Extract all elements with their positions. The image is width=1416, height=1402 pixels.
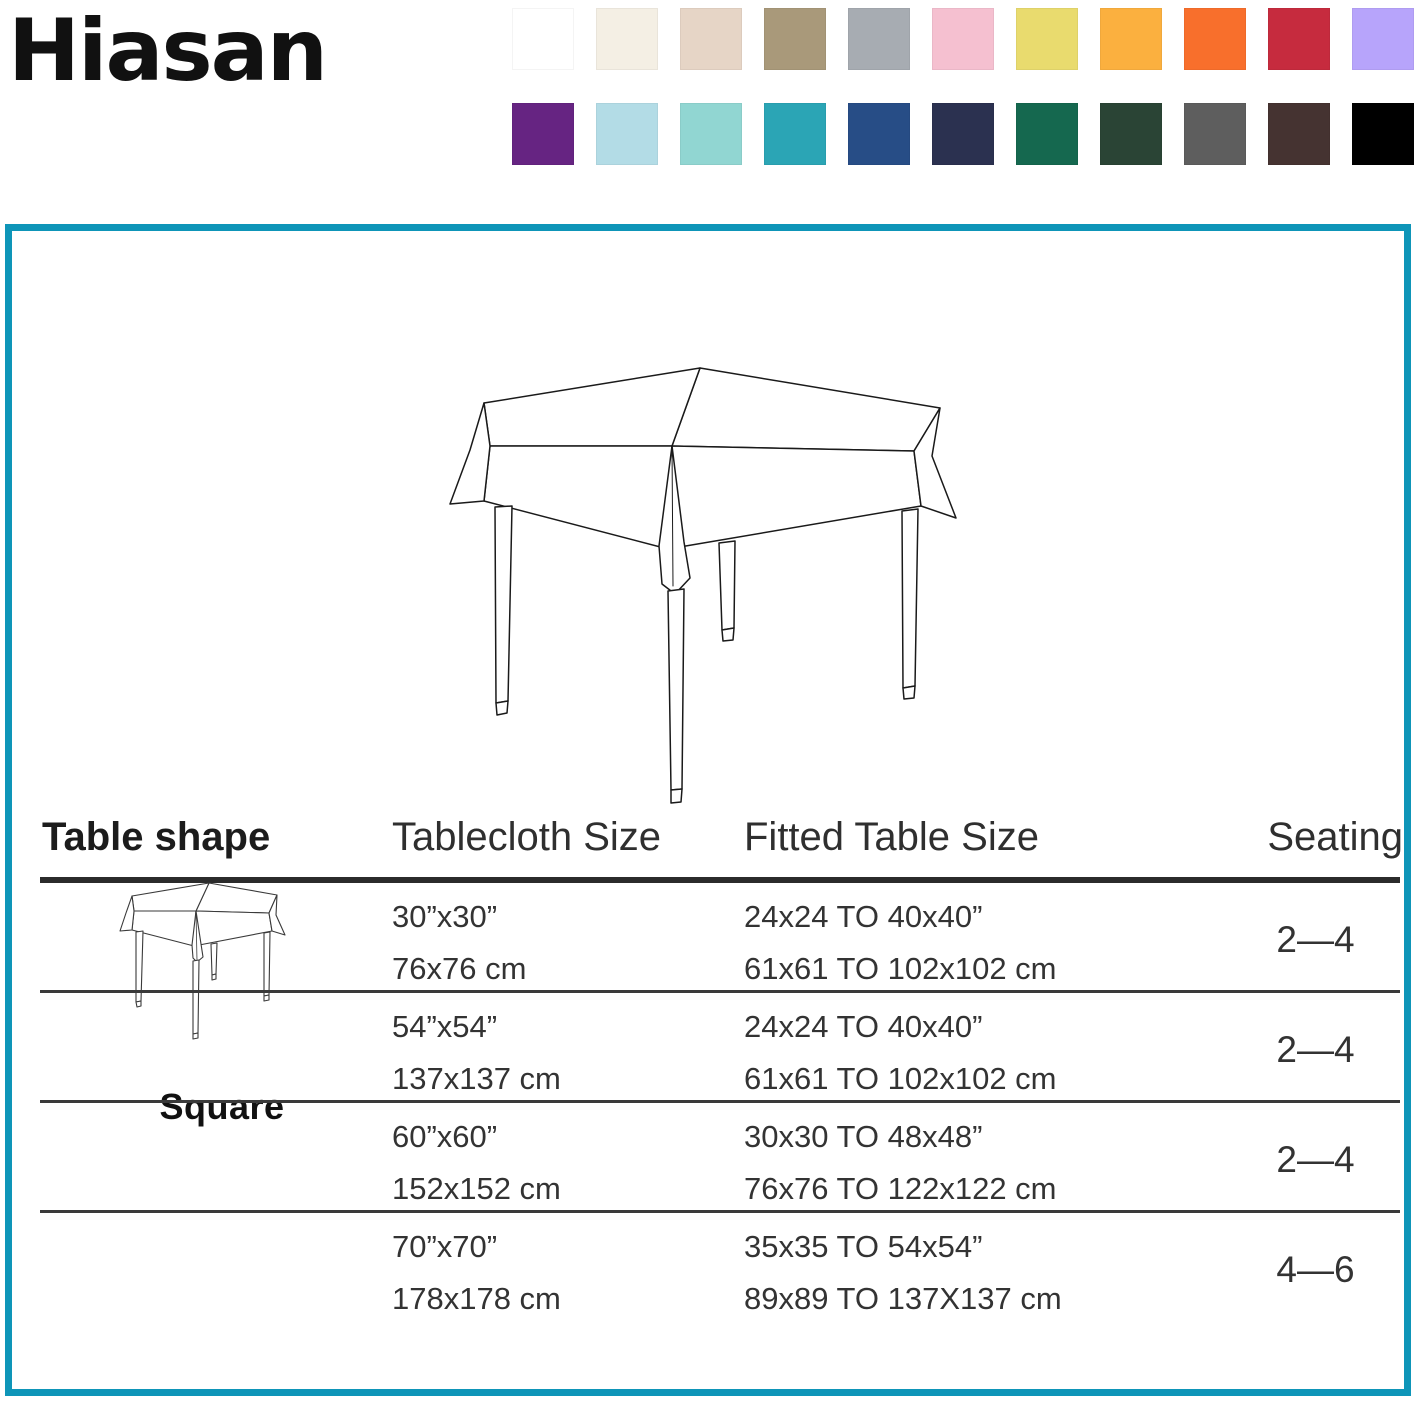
fitted-table-size-cell: 35x35 TO 54x54”89x89 TO 137X137 cm — [744, 1221, 1224, 1325]
color-swatch-row-1 — [512, 8, 1412, 70]
color-swatch-hunter-green[interactable] — [1100, 103, 1162, 165]
tablecloth-size-cm: 178x178 cm — [392, 1273, 742, 1325]
fitted-table-size-cell: 24x24 TO 40x40”61x61 TO 102x102 cm — [744, 891, 1224, 995]
size-table-row: 70”x70”178x178 cm35x35 TO 54x54”89x89 TO… — [32, 1213, 1400, 1331]
size-table-row: 60”x60”152x152 cm30x30 TO 48x48”76x76 TO… — [32, 1103, 1400, 1213]
seating-value: 2—4 — [1228, 1027, 1403, 1073]
seating-value: 4—6 — [1228, 1247, 1403, 1293]
color-swatch-row-2 — [512, 103, 1412, 165]
header-tablecloth-size: Tablecloth Size — [392, 811, 742, 863]
color-swatch-orange[interactable] — [1184, 8, 1246, 70]
fitted-table-size-cm: 61x61 TO 102x102 cm — [744, 943, 1224, 995]
fitted-table-size-cm: 76x76 TO 122x122 cm — [744, 1163, 1224, 1215]
color-swatch-grid — [512, 8, 1412, 170]
size-table-header: Table shape Tablecloth Size Fitted Table… — [32, 811, 1400, 877]
color-swatch-navy-blue[interactable] — [848, 103, 910, 165]
fitted-table-size-inches: 24x24 TO 40x40” — [744, 891, 1224, 943]
color-swatch-white[interactable] — [512, 8, 574, 70]
color-swatch-dark-brown[interactable] — [1268, 103, 1330, 165]
square-table-illustration — [432, 346, 992, 806]
color-swatch-purple[interactable] — [512, 103, 574, 165]
tablecloth-size-inches: 60”x60” — [392, 1111, 742, 1163]
tablecloth-size-cm: 152x152 cm — [392, 1163, 742, 1215]
size-table: Table shape Tablecloth Size Fitted Table… — [32, 811, 1400, 1331]
seating-value: 2—4 — [1228, 917, 1403, 963]
color-swatch-pale-yellow[interactable] — [1016, 8, 1078, 70]
fitted-table-size-cm: 89x89 TO 137X137 cm — [744, 1273, 1224, 1325]
tablecloth-size-inches: 54”x54” — [392, 1001, 742, 1053]
tablecloth-size-inches: 70”x70” — [392, 1221, 742, 1273]
tablecloth-size-cm: 76x76 cm — [392, 943, 742, 995]
color-swatch-red[interactable] — [1268, 8, 1330, 70]
seating-value: 2—4 — [1228, 1137, 1403, 1183]
color-swatch-blush-pink[interactable] — [932, 8, 994, 70]
color-swatch-charcoal-gray[interactable] — [1184, 103, 1246, 165]
color-swatch-lavender[interactable] — [1352, 8, 1414, 70]
header-fitted-table-size: Fitted Table Size — [744, 811, 1224, 863]
color-swatch-taupe[interactable] — [764, 8, 826, 70]
size-table-row: 30”x30”76x76 cm24x24 TO 40x40”61x61 TO 1… — [32, 883, 1400, 993]
tablecloth-size-cell: 54”x54”137x137 cm — [392, 1001, 742, 1105]
color-swatch-silver-gray[interactable] — [848, 8, 910, 70]
color-swatch-teal[interactable] — [764, 103, 826, 165]
color-swatch-aqua[interactable] — [680, 103, 742, 165]
fitted-table-size-inches: 35x35 TO 54x54” — [744, 1221, 1224, 1273]
color-swatch-light-blue[interactable] — [596, 103, 658, 165]
size-table-body: 30”x30”76x76 cm24x24 TO 40x40”61x61 TO 1… — [32, 883, 1400, 1331]
fitted-table-size-cell: 24x24 TO 40x40”61x61 TO 102x102 cm — [744, 1001, 1224, 1105]
tablecloth-size-cell: 30”x30”76x76 cm — [392, 891, 742, 995]
tablecloth-size-cell: 60”x60”152x152 cm — [392, 1111, 742, 1215]
tablecloth-size-inches: 30”x30” — [392, 891, 742, 943]
fitted-table-size-cm: 61x61 TO 102x102 cm — [744, 1053, 1224, 1105]
color-swatch-beige[interactable] — [680, 8, 742, 70]
fitted-table-size-cell: 30x30 TO 48x48”76x76 TO 122x122 cm — [744, 1111, 1224, 1215]
brand-logo: Hiasan — [8, 8, 326, 94]
color-swatch-emerald[interactable] — [1016, 103, 1078, 165]
color-swatch-black[interactable] — [1352, 103, 1414, 165]
header-seating: Seating — [1228, 811, 1403, 863]
tablecloth-size-cell: 70”x70”178x178 cm — [392, 1221, 742, 1325]
size-table-row: 54”x54”137x137 cm24x24 TO 40x40”61x61 TO… — [32, 993, 1400, 1103]
tablecloth-size-cm: 137x137 cm — [392, 1053, 742, 1105]
color-swatch-dark-navy[interactable] — [932, 103, 994, 165]
header-table-shape: Table shape — [42, 811, 382, 863]
color-swatch-ivory[interactable] — [596, 8, 658, 70]
fitted-table-size-inches: 30x30 TO 48x48” — [744, 1111, 1224, 1163]
color-swatch-gold[interactable] — [1100, 8, 1162, 70]
product-infographic: Hiasan — [0, 0, 1416, 1402]
content-frame: Table shape Tablecloth Size Fitted Table… — [5, 224, 1411, 1396]
fitted-table-size-inches: 24x24 TO 40x40” — [744, 1001, 1224, 1053]
